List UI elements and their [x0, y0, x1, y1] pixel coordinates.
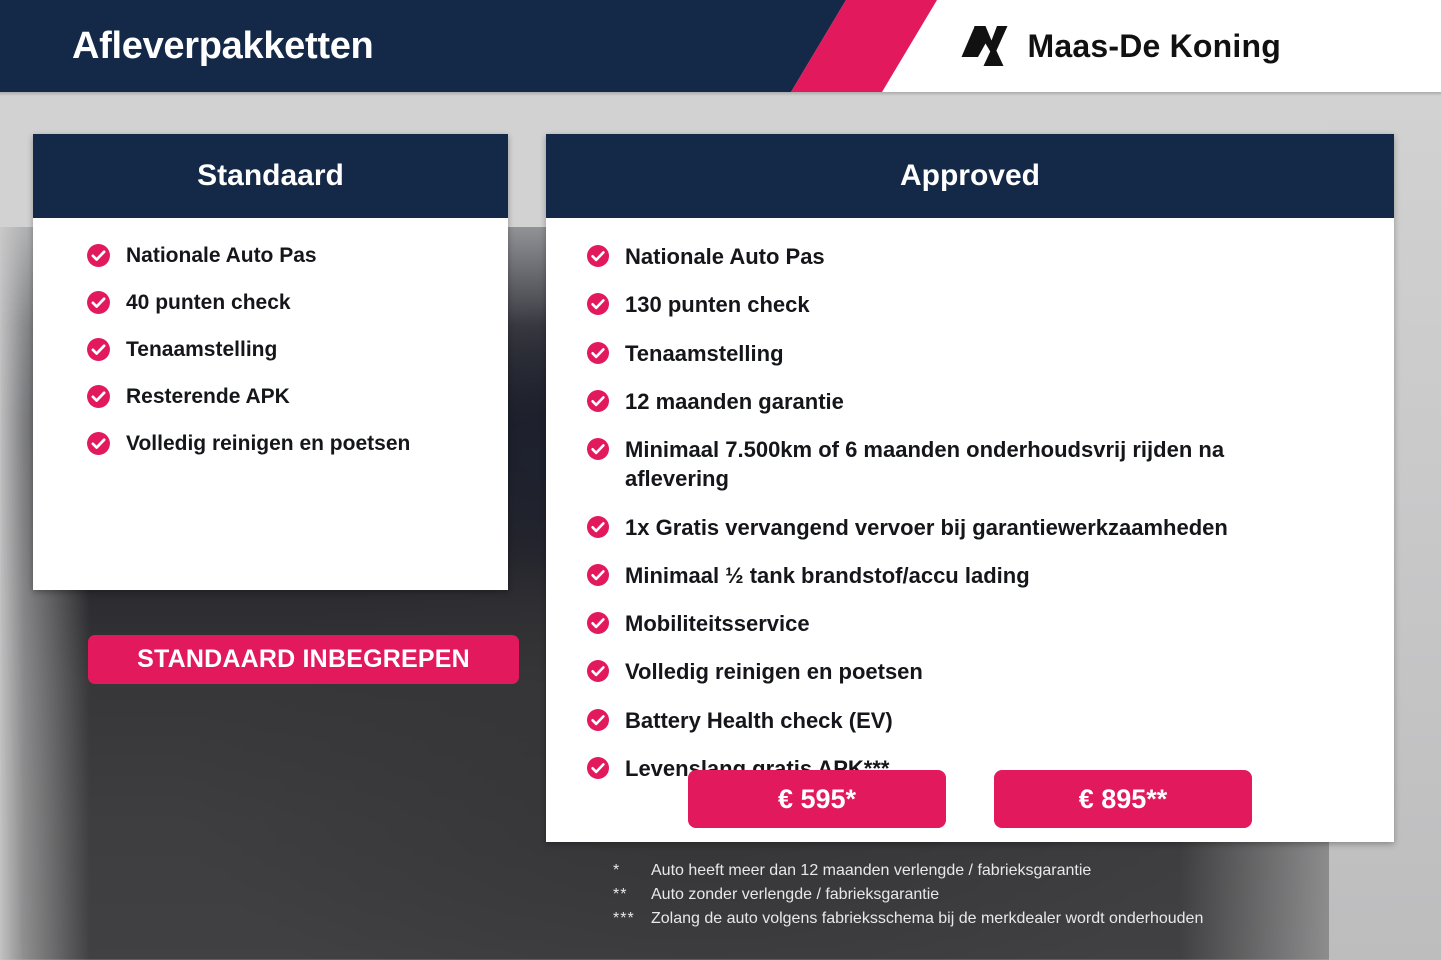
maas-de-koning-m-logo-icon	[960, 24, 1014, 68]
check-circle-icon	[586, 515, 610, 539]
package-card-standaard: Standaard Nationale Auto Pas 40 punten c…	[33, 134, 508, 590]
list-item: 130 punten check	[586, 290, 1394, 319]
list-item: Minimaal 7.500km of 6 maanden onderhouds…	[586, 435, 1266, 494]
feature-label: Nationale Auto Pas	[625, 242, 825, 271]
footnote-mark: ***	[613, 910, 651, 928]
feature-label: Volledig reinigen en poetsen	[625, 657, 923, 686]
brand-name: Maas-De Koning	[1028, 28, 1282, 65]
list-item: Resterende APK	[86, 383, 508, 411]
check-circle-icon	[586, 659, 610, 683]
list-item: Mobiliteitsservice	[586, 609, 1394, 638]
feature-label: 1x Gratis vervangend vervoer bij garanti…	[625, 513, 1228, 542]
footnote-row: * Auto heeft meer dan 12 maanden verleng…	[613, 862, 1373, 880]
check-circle-icon	[586, 563, 610, 587]
page-title: Afleverpakketten	[72, 0, 373, 92]
price-button-895[interactable]: € 895**	[994, 770, 1252, 828]
price-button-row: € 595* € 895**	[546, 770, 1394, 828]
check-circle-icon	[586, 708, 610, 732]
list-item: Nationale Auto Pas	[586, 242, 1394, 271]
package-title-standaard: Standaard	[33, 134, 508, 218]
feature-label: Battery Health check (EV)	[625, 706, 893, 735]
footnote-text: Auto heeft meer dan 12 maanden verlengde…	[651, 862, 1091, 880]
footnote-mark: *	[613, 862, 651, 880]
check-circle-icon	[586, 611, 610, 635]
check-circle-icon	[586, 437, 610, 461]
feature-label: Minimaal 7.500km of 6 maanden onderhouds…	[625, 435, 1266, 494]
footnote-text: Auto zonder verlengde / fabrieksgarantie	[651, 886, 939, 904]
check-circle-icon	[86, 384, 111, 409]
header-shadow	[0, 92, 1441, 96]
list-item: Volledig reinigen en poetsen	[86, 430, 508, 458]
footnote-row: ** Auto zonder verlengde / fabrieksgaran…	[613, 886, 1373, 904]
check-circle-icon	[586, 341, 610, 365]
check-circle-icon	[586, 389, 610, 413]
footnotes: * Auto heeft meer dan 12 maanden verleng…	[613, 862, 1373, 934]
check-circle-icon	[86, 431, 111, 456]
list-item: Tenaamstelling	[586, 339, 1394, 368]
list-item: Battery Health check (EV)	[586, 706, 1394, 735]
list-item: Nationale Auto Pas	[86, 242, 508, 270]
check-circle-icon	[586, 244, 610, 268]
feature-label: Tenaamstelling	[625, 339, 784, 368]
feature-label: Volledig reinigen en poetsen	[126, 430, 410, 458]
list-item: Volledig reinigen en poetsen	[586, 657, 1394, 686]
feature-label: 12 maanden garantie	[625, 387, 844, 416]
price-button-595[interactable]: € 595*	[688, 770, 946, 828]
brand-lockup: Maas-De Koning	[960, 0, 1282, 92]
list-item: Minimaal ½ tank brandstof/accu lading	[586, 561, 1394, 590]
footnote-text: Zolang de auto volgens fabrieksschema bi…	[651, 910, 1203, 928]
package-card-approved: Approved Nationale Auto Pas 130 punten c…	[546, 134, 1394, 842]
check-circle-icon	[86, 337, 111, 362]
feature-list-approved: Nationale Auto Pas 130 punten check Tena…	[586, 242, 1394, 783]
check-circle-icon	[86, 290, 111, 315]
feature-label: Resterende APK	[126, 383, 290, 411]
package-title-approved: Approved	[546, 134, 1394, 218]
feature-label: 130 punten check	[625, 290, 810, 319]
list-item: 1x Gratis vervangend vervoer bij garanti…	[586, 513, 1394, 542]
list-item: 12 maanden garantie	[586, 387, 1394, 416]
footnote-row: *** Zolang de auto volgens fabrieksschem…	[613, 910, 1373, 928]
feature-label: Tenaamstelling	[126, 336, 277, 364]
afleverpakketten-poster: Afleverpakketten Maas-De Koning Standaar…	[0, 0, 1441, 960]
check-circle-icon	[586, 292, 610, 316]
feature-list-standaard: Nationale Auto Pas 40 punten check Tenaa…	[86, 242, 508, 458]
feature-label: 40 punten check	[126, 289, 291, 317]
feature-label: Minimaal ½ tank brandstof/accu lading	[625, 561, 1030, 590]
standaard-included-button[interactable]: STANDAARD INBEGREPEN	[88, 635, 519, 684]
check-circle-icon	[86, 243, 111, 268]
page-header: Afleverpakketten Maas-De Koning	[0, 0, 1441, 92]
list-item: 40 punten check	[86, 289, 508, 317]
footnote-mark: **	[613, 886, 651, 904]
feature-label: Mobiliteitsservice	[625, 609, 810, 638]
list-item: Tenaamstelling	[86, 336, 508, 364]
feature-label: Nationale Auto Pas	[126, 242, 317, 270]
